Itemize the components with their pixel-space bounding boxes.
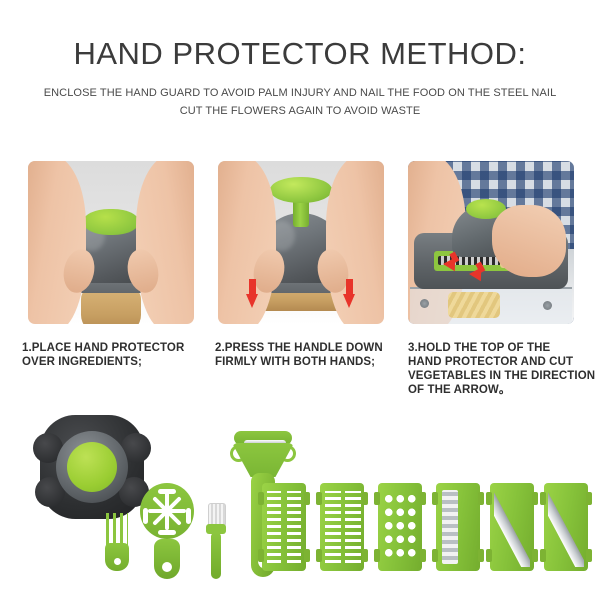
product-lineup xyxy=(0,405,600,590)
left-arm xyxy=(28,161,86,324)
blade-slicer-thick xyxy=(544,483,588,571)
caption-line: VEGETABLES IN THE DIRECTION xyxy=(408,369,588,383)
step-photo-1 xyxy=(28,161,194,324)
step-photo-2 xyxy=(218,161,384,324)
direction-arrow-icon xyxy=(444,253,460,271)
page-subtitle: ENCLOSE THE HAND GUARD TO AVOID PALM INJ… xyxy=(0,84,600,120)
step-caption-2: 2.PRESS THE HANDLE DOWN FIRMLY WITH BOTH… xyxy=(215,341,405,369)
sliced-potato-chip xyxy=(448,292,500,318)
infographic-page: HAND PROTECTOR METHOD: ENCLOSE THE HAND … xyxy=(0,0,600,600)
peeler-blade-bar xyxy=(234,431,292,445)
caption-line: 2.PRESS THE HANDLE DOWN xyxy=(215,341,405,355)
direction-arrow-icon xyxy=(470,263,486,281)
right-hand xyxy=(492,205,566,277)
step-photo-3 xyxy=(408,161,574,324)
page-title: HAND PROTECTOR METHOD: xyxy=(0,36,600,72)
down-arrow-icon xyxy=(246,279,259,309)
cleaning-brush xyxy=(205,503,227,579)
down-arrow-icon xyxy=(343,279,356,309)
flower-cutter-handle xyxy=(154,539,180,579)
step-caption-1: 1.PLACE HAND PROTECTOR OVER INGREDIENTS; xyxy=(22,341,207,369)
protector-green-cap xyxy=(83,209,139,235)
blade-coarse-julienne xyxy=(320,483,364,571)
subtitle-line-2: CUT THE FLOWERS AGAIN TO AVOID WASTE xyxy=(0,102,600,120)
blade-slicer-thin xyxy=(490,483,534,571)
blade-grater xyxy=(436,483,480,571)
flower-cutter xyxy=(140,483,194,579)
handle-knob xyxy=(270,177,332,203)
comb-teeth xyxy=(106,513,128,545)
right-arm xyxy=(136,161,194,324)
caption-line: FIRMLY WITH BOTH HANDS; xyxy=(215,355,405,369)
storage-container xyxy=(410,287,572,324)
scene-2 xyxy=(218,161,384,324)
flower-cutter-head xyxy=(140,483,194,539)
caption-line: OF THE ARROW。 xyxy=(408,383,588,397)
caption-line: OVER INGREDIENTS; xyxy=(22,355,207,369)
hand-protector-top-view xyxy=(40,415,144,519)
protector-green-center xyxy=(67,442,117,492)
brush-handle xyxy=(211,533,221,579)
caption-line: 1.PLACE HAND PROTECTOR xyxy=(22,341,207,355)
scene-3 xyxy=(408,161,574,324)
subtitle-line-1: ENCLOSE THE HAND GUARD TO AVOID PALM INJ… xyxy=(0,84,600,102)
caption-line: 3.HOLD THE TOP OF THE xyxy=(408,341,588,355)
caption-line: HAND PROTECTOR AND CUT xyxy=(408,355,588,369)
blade-dicer xyxy=(378,483,422,571)
scene-1 xyxy=(28,161,194,324)
blade-fine-julienne xyxy=(262,483,306,571)
step-caption-3: 3.HOLD THE TOP OF THE HAND PROTECTOR AND… xyxy=(408,341,588,397)
comb-handle xyxy=(105,543,129,571)
cleaning-comb xyxy=(104,513,130,571)
